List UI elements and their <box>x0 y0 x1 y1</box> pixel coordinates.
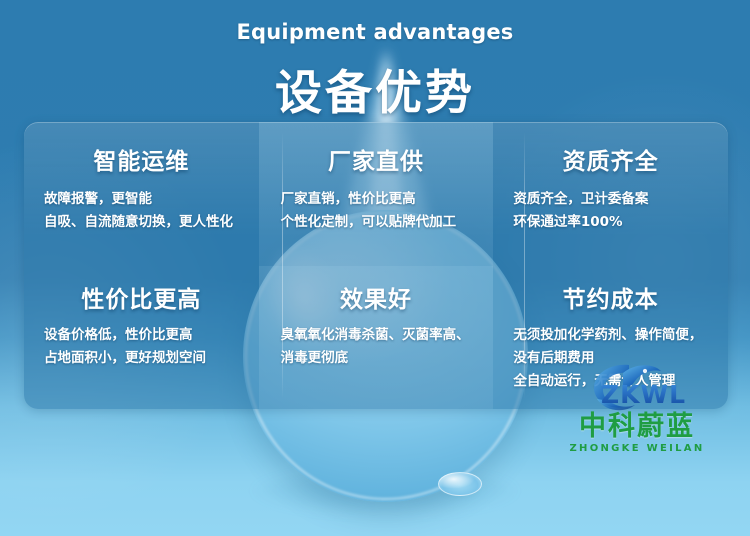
advantage-lines: 无须投加化学药剂、操作简便， 没有后期费用 全自动运行，无需专人管理 <box>509 324 712 393</box>
advantage-lines: 故障报警，更智能 自吸、自流随意切换，更人性化 <box>40 188 243 234</box>
advantage-line: 占地面积小，更好规划空间 <box>44 347 243 370</box>
advantage-cell-better-value: 性价比更高 设备价格低，性价比更高 占地面积小，更好规划空间 <box>24 266 259 410</box>
advantage-cell-good-effect: 效果好 臭氧氧化消毒杀菌、灭菌率高、 消毒更彻底 <box>259 266 494 410</box>
page-title: 设备优势 <box>0 54 750 123</box>
brand-name-en: ZHONGKE WEILAN <box>557 442 717 456</box>
advantage-lines: 资质齐全，卫计委备案 环保通过率100% <box>509 188 712 234</box>
advantage-line: 个性化定制，可以贴牌代加工 <box>281 211 478 234</box>
advantage-title: 资质齐全 <box>509 142 712 176</box>
advantage-line: 没有后期费用 <box>513 347 712 370</box>
advantage-cell-factory-direct: 厂家直供 厂家直销，性价比更高 个性化定制，可以贴牌代加工 <box>259 122 494 266</box>
poster-canvas: Equipment advantages 设备优势 智能运维 故障报警，更智能 … <box>0 0 750 536</box>
advantage-title: 性价比更高 <box>40 280 243 314</box>
advantage-line: 环保通过率100% <box>513 211 712 234</box>
small-droplet-icon <box>438 472 482 496</box>
advantage-line: 臭氧氧化消毒杀菌、灭菌率高、 <box>281 324 478 347</box>
advantage-line: 消毒更彻底 <box>281 347 478 370</box>
small-droplet-shadow <box>440 486 480 498</box>
small-droplet-body <box>438 472 482 496</box>
advantage-title: 厂家直供 <box>275 142 478 176</box>
advantage-lines: 设备价格低，性价比更高 占地面积小，更好规划空间 <box>40 324 243 370</box>
advantage-lines: 臭氧氧化消毒杀菌、灭菌率高、 消毒更彻底 <box>275 324 478 370</box>
advantage-cell-full-qualification: 资质齐全 资质齐全，卫计委备案 环保通过率100% <box>493 122 728 266</box>
advantage-cell-smart-ops: 智能运维 故障报警，更智能 自吸、自流随意切换，更人性化 <box>24 122 259 266</box>
advantage-line: 故障报警，更智能 <box>44 188 243 211</box>
advantage-line: 资质齐全，卫计委备案 <box>513 188 712 211</box>
brand-name-cn: 中科蔚蓝 <box>557 412 717 442</box>
advantage-title: 效果好 <box>275 280 478 314</box>
advantage-line: 自吸、自流随意切换，更人性化 <box>44 211 243 234</box>
advantage-title: 智能运维 <box>40 142 243 176</box>
advantage-line: 全自动运行，无需专人管理 <box>513 370 712 393</box>
advantage-line: 无须投加化学药剂、操作简便， <box>513 324 712 347</box>
advantages-panel: 智能运维 故障报警，更智能 自吸、自流随意切换，更人性化 厂家直供 厂家直销，性… <box>24 122 728 409</box>
brand-logo: 中科蔚蓝 ZHONGKE WEILAN <box>557 412 717 458</box>
advantage-title: 节约成本 <box>509 280 712 314</box>
advantage-cell-save-cost: 节约成本 无须投加化学药剂、操作简便， 没有后期费用 全自动运行，无需专人管理 <box>493 266 728 410</box>
poster-header: Equipment advantages 设备优势 <box>0 0 750 123</box>
advantage-line: 厂家直销，性价比更高 <box>281 188 478 211</box>
header-eyebrow: Equipment advantages <box>0 20 750 44</box>
advantage-lines: 厂家直销，性价比更高 个性化定制，可以贴牌代加工 <box>275 188 478 234</box>
water-drop-shadow <box>251 470 519 516</box>
advantage-line: 设备价格低，性价比更高 <box>44 324 243 347</box>
